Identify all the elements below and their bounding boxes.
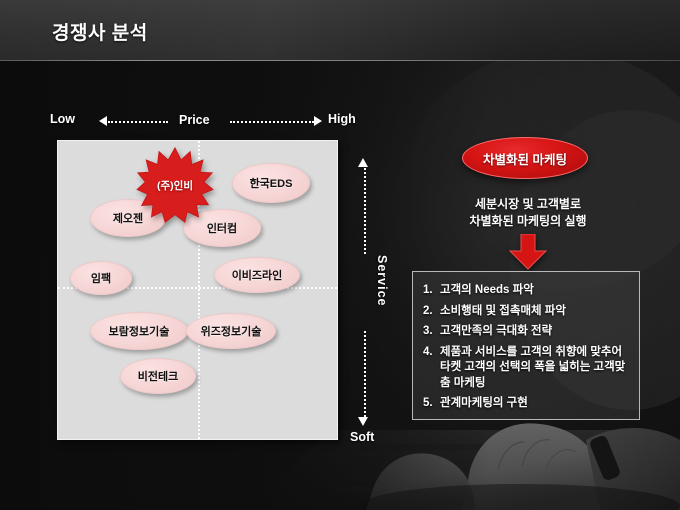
strategy-list: 1. 고객의 Needs 파악 2. 소비행태 및 접촉매체 파악 3. 고객만…: [413, 272, 639, 412]
bubble-label: 임팩: [91, 270, 111, 286]
service-axis-dotline-top: [364, 168, 366, 254]
price-axis-dotline-left: [108, 121, 168, 123]
list-item: 1. 고객의 Needs 파악: [423, 283, 629, 299]
page-title: 경쟁사 분석: [52, 18, 148, 45]
list-item-text: 소비행태 및 접촉매체 파악: [440, 304, 629, 320]
plot-panel: 제오젠 한국EDS 인터컴 이비즈라인 임팩 보람정보기술: [57, 140, 338, 440]
slide-header: 경쟁사 분석: [0, 0, 680, 61]
bubble-label: 한국EDS: [250, 175, 293, 191]
price-axis-dotline-right: [230, 121, 314, 123]
arrow-up-icon: [358, 158, 368, 167]
bubble-point[interactable]: 보람정보기술: [90, 312, 188, 350]
list-item-number: 5.: [423, 396, 440, 412]
slide-canvas: 경쟁사 분석 Low Price High 제오젠 한국EDS: [0, 0, 680, 510]
axis-label-low: Low: [50, 112, 75, 126]
bubble-label: 이비즈라인: [232, 267, 283, 283]
strategy-subhead: 세분시장 및 고객별로 차별화된 마케팅의 실행: [410, 196, 646, 230]
price-axis: Low Price High: [50, 110, 380, 130]
arrow-right-icon: [314, 116, 322, 126]
strategy-list-box: 1. 고객의 Needs 파악 2. 소비행태 및 접촉매체 파악 3. 고객만…: [412, 271, 640, 420]
service-axis-dotline-bottom: [364, 331, 366, 417]
list-item-number: 4.: [423, 345, 440, 392]
status-badge[interactable]: 차별화된 마케팅: [462, 137, 588, 179]
list-item-text: 고객만족의 극대화 전략: [440, 324, 629, 340]
list-item-text: 관계마케팅의 구현: [440, 396, 629, 412]
service-axis: Service: [348, 146, 388, 446]
list-item: 2. 소비행태 및 접촉매체 파악: [423, 304, 629, 320]
bubble-point[interactable]: 한국EDS: [232, 163, 310, 203]
axis-label-price: Price: [179, 113, 210, 127]
list-item-text: 고객의 Needs 파악: [440, 283, 629, 299]
list-item: 5. 관계마케팅의 구현: [423, 396, 629, 412]
list-item-number: 2.: [423, 304, 440, 320]
list-item-number: 1.: [423, 283, 440, 299]
bubble-point[interactable]: 임팩: [70, 261, 132, 295]
status-badge-label: 차별화된 마케팅: [483, 149, 567, 168]
bubble-label: 보람정보기술: [109, 323, 170, 339]
bubble-label: 위즈정보기술: [201, 323, 262, 339]
bubble-label: 비전테크: [138, 368, 178, 384]
down-arrow-icon: [508, 234, 548, 270]
bubble-point[interactable]: 이비즈라인: [214, 257, 300, 293]
list-item-text: 제품과 서비스를 고객의 취향에 맞추어 타켓 고객의 선택의 폭을 넓히는 고…: [440, 345, 629, 392]
list-item: 4. 제품과 서비스를 고객의 취향에 맞추어 타켓 고객의 선택의 폭을 넓히…: [423, 345, 629, 392]
bubble-point[interactable]: 비전테크: [120, 358, 196, 394]
highlight-starburst[interactable]: (주)인비: [134, 147, 216, 223]
bubble-point[interactable]: 위즈정보기술: [186, 313, 276, 349]
strategy-subhead-line1: 세분시장 및 고객별로: [410, 196, 646, 213]
axis-label-soft: Soft: [350, 430, 374, 444]
axis-label-service: Service: [343, 255, 389, 306]
strategy-subhead-line2: 차별화된 마케팅의 실행: [410, 213, 646, 230]
list-item: 3. 고객만족의 극대화 전략: [423, 324, 629, 340]
axis-label-high: High: [328, 112, 356, 126]
starburst-label: (주)인비: [134, 147, 216, 223]
arrow-down-icon: [358, 417, 368, 426]
arrow-left-icon: [99, 116, 107, 126]
list-item-number: 3.: [423, 324, 440, 340]
